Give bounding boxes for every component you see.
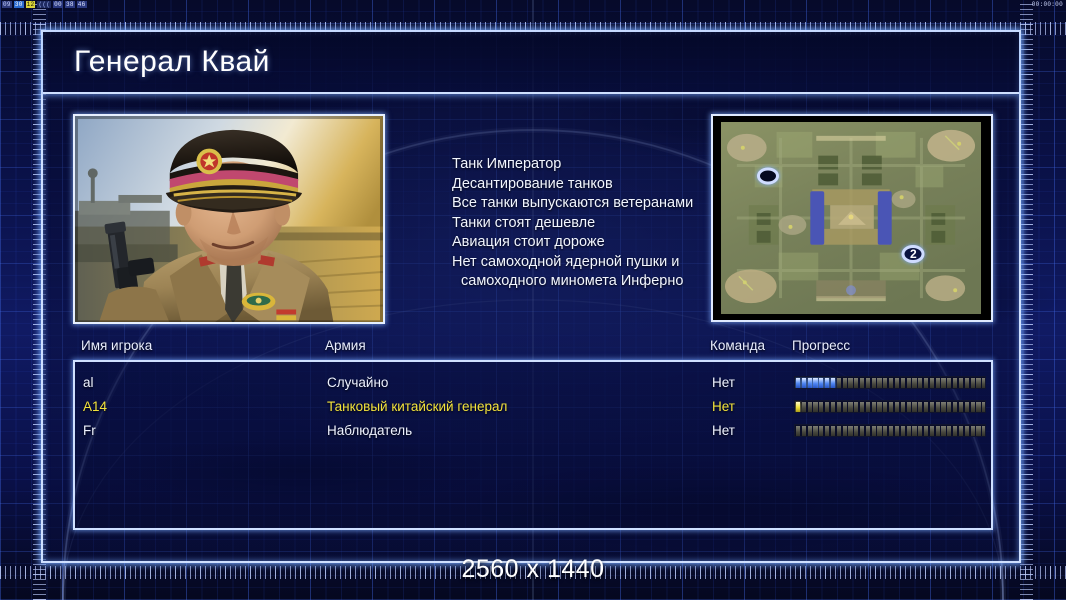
- progress-segment: [901, 378, 905, 389]
- progress-segment: [825, 402, 829, 413]
- progress-segment: [912, 426, 916, 437]
- progress-segment: [831, 402, 835, 413]
- general-description: Танк Император Десантирование танков Все…: [385, 114, 699, 292]
- column-header-progress: Прогресс: [792, 338, 850, 353]
- progress-segment: [866, 426, 870, 437]
- progress-segment: [965, 426, 969, 437]
- progress-segment: [941, 426, 945, 437]
- progress-segment: [971, 402, 975, 413]
- progress-segment: [924, 402, 928, 413]
- progress-segment: [796, 378, 800, 389]
- progress-segment: [860, 402, 864, 413]
- progress-segment: [971, 378, 975, 389]
- progress-segment: [895, 426, 899, 437]
- progress-segment: [907, 378, 911, 389]
- progress-segment: [982, 402, 986, 413]
- progress-segment: [860, 426, 864, 437]
- progress-segment: [965, 402, 969, 413]
- progress-segment: [802, 402, 806, 413]
- progress-segment: [953, 402, 957, 413]
- progress-segment: [877, 426, 881, 437]
- description-line: Все танки выпускаются ветеранами: [452, 194, 699, 214]
- table-row[interactable]: al Случайно Нет: [75, 372, 991, 396]
- progress-segment: [976, 426, 980, 437]
- player-progress-bar: [794, 376, 986, 389]
- progress-segment: [819, 426, 823, 437]
- progress-segment: [854, 378, 858, 389]
- column-header-army: Армия: [325, 338, 366, 353]
- progress-segment: [819, 378, 823, 389]
- timecode-seg: (((: [37, 1, 51, 8]
- progress-segment: [883, 378, 887, 389]
- player-list-body: al Случайно Нет A14 Танковый китайский г…: [73, 360, 993, 530]
- general-info-row: Танк Император Десантирование танков Все…: [73, 114, 993, 326]
- progress-segment: [889, 402, 893, 413]
- progress-segment: [912, 378, 916, 389]
- progress-segment: [924, 378, 928, 389]
- column-header-player: Имя игрока: [81, 338, 152, 353]
- description-line: Десантирование танков: [452, 175, 699, 195]
- progress-segment: [930, 402, 934, 413]
- player-name: Fr: [83, 423, 96, 438]
- progress-segment: [901, 426, 905, 437]
- game-lobby-screen: 093012(((003846 00:00:00 Генерал Квай: [0, 0, 1066, 600]
- progress-segment: [802, 426, 806, 437]
- column-header-team: Команда: [710, 338, 765, 353]
- description-line: Нет самоходной ядерной пушки и: [452, 253, 699, 273]
- player-army[interactable]: Танковый китайский генерал: [327, 399, 507, 414]
- player-name: al: [83, 375, 94, 390]
- player-army[interactable]: Наблюдатель: [327, 423, 412, 438]
- progress-segment: [819, 402, 823, 413]
- description-line: Танки стоят дешевле: [452, 214, 699, 234]
- progress-segment: [959, 426, 963, 437]
- timecode-left: 093012(((003846: [2, 1, 89, 8]
- title-bar: Генерал Квай: [43, 32, 1019, 94]
- progress-segment: [866, 378, 870, 389]
- progress-segment: [883, 426, 887, 437]
- progress-segment: [796, 402, 800, 413]
- progress-segment: [813, 402, 817, 413]
- resolution-caption: 2560 x 1440: [0, 555, 1066, 584]
- player-list-header: Имя игрока Армия Команда Прогресс: [73, 338, 993, 358]
- progress-segment: [941, 378, 945, 389]
- progress-segment: [982, 426, 986, 437]
- timecode-seg: 09: [2, 1, 12, 8]
- progress-segment: [854, 426, 858, 437]
- timecode-seg: 12: [26, 1, 36, 8]
- progress-segment: [936, 402, 940, 413]
- progress-segment: [889, 426, 893, 437]
- progress-segment: [877, 402, 881, 413]
- progress-segment: [971, 426, 975, 437]
- progress-segment: [947, 426, 951, 437]
- progress-segment: [953, 426, 957, 437]
- progress-segment: [866, 402, 870, 413]
- progress-segment: [907, 402, 911, 413]
- progress-segment: [895, 402, 899, 413]
- progress-segment: [883, 402, 887, 413]
- progress-segment: [930, 378, 934, 389]
- progress-segment: [941, 402, 945, 413]
- progress-segment: [813, 378, 817, 389]
- progress-segment: [854, 402, 858, 413]
- progress-segment: [831, 378, 835, 389]
- progress-segment: [918, 402, 922, 413]
- timecode-right: 00:00:00: [1032, 1, 1063, 8]
- progress-segment: [808, 426, 812, 437]
- description-line: Авиация стоит дороже: [452, 233, 699, 253]
- progress-segment: [959, 378, 963, 389]
- ruler-right: [1020, 0, 1033, 600]
- table-row[interactable]: A14 Танковый китайский генерал Нет: [75, 396, 991, 420]
- player-progress-bar: [794, 424, 986, 437]
- progress-segment: [918, 378, 922, 389]
- player-army[interactable]: Случайно: [327, 375, 388, 390]
- start-position-label: 2: [910, 247, 917, 261]
- timecode-seg: 38: [65, 1, 75, 8]
- progress-segment: [982, 378, 986, 389]
- progress-segment: [936, 378, 940, 389]
- player-name: A14: [83, 399, 107, 414]
- progress-segment: [889, 378, 893, 389]
- progress-segment: [837, 402, 841, 413]
- general-portrait: [73, 114, 385, 324]
- description-line: самоходного миномета Инферно: [452, 272, 699, 292]
- progress-segment: [808, 378, 812, 389]
- progress-segment: [843, 402, 847, 413]
- table-row[interactable]: Fr Наблюдатель Нет: [75, 420, 991, 444]
- progress-segment: [872, 426, 876, 437]
- start-position-marker[interactable]: 2: [902, 245, 925, 263]
- progress-segment: [877, 378, 881, 389]
- progress-segment: [843, 426, 847, 437]
- progress-segment: [959, 402, 963, 413]
- progress-segment: [976, 378, 980, 389]
- progress-segment: [848, 378, 852, 389]
- progress-segment: [796, 426, 800, 437]
- progress-segment: [924, 426, 928, 437]
- player-list: Имя игрока Армия Команда Прогресс al Слу…: [73, 338, 993, 538]
- progress-segment: [808, 402, 812, 413]
- progress-segment: [825, 378, 829, 389]
- progress-segment: [872, 378, 876, 389]
- main-panel: Генерал Квай: [41, 30, 1021, 563]
- page-title: Генерал Квай: [74, 45, 270, 79]
- progress-segment: [947, 378, 951, 389]
- progress-segment: [860, 378, 864, 389]
- progress-segment: [912, 402, 916, 413]
- progress-segment: [837, 378, 841, 389]
- progress-segment: [843, 378, 847, 389]
- timecode-seg: 30: [14, 1, 24, 8]
- progress-segment: [918, 426, 922, 437]
- progress-segment: [872, 402, 876, 413]
- progress-segment: [848, 426, 852, 437]
- progress-segment: [976, 402, 980, 413]
- progress-segment: [907, 426, 911, 437]
- player-team[interactable]: Нет: [712, 423, 735, 438]
- progress-segment: [936, 426, 940, 437]
- progress-segment: [837, 426, 841, 437]
- map-preview-image[interactable]: 2: [721, 122, 981, 314]
- progress-segment: [831, 426, 835, 437]
- progress-segment: [901, 402, 905, 413]
- map-preview-panel[interactable]: 2: [711, 114, 993, 322]
- progress-segment: [825, 426, 829, 437]
- progress-segment: [813, 426, 817, 437]
- player-progress-bar: [794, 400, 986, 413]
- progress-segment: [895, 378, 899, 389]
- progress-segment: [947, 402, 951, 413]
- timecode-seg: 00: [53, 1, 63, 8]
- progress-segment: [930, 426, 934, 437]
- progress-segment: [848, 402, 852, 413]
- chinese-general-portrait-image: [75, 116, 383, 323]
- player-team[interactable]: Нет: [712, 375, 735, 390]
- description-line: Танк Император: [452, 155, 699, 175]
- progress-segment: [953, 378, 957, 389]
- progress-segment: [802, 378, 806, 389]
- player-team[interactable]: Нет: [712, 399, 735, 414]
- start-position-marker[interactable]: [757, 167, 779, 184]
- timecode-seg: 46: [77, 1, 87, 8]
- progress-segment: [965, 378, 969, 389]
